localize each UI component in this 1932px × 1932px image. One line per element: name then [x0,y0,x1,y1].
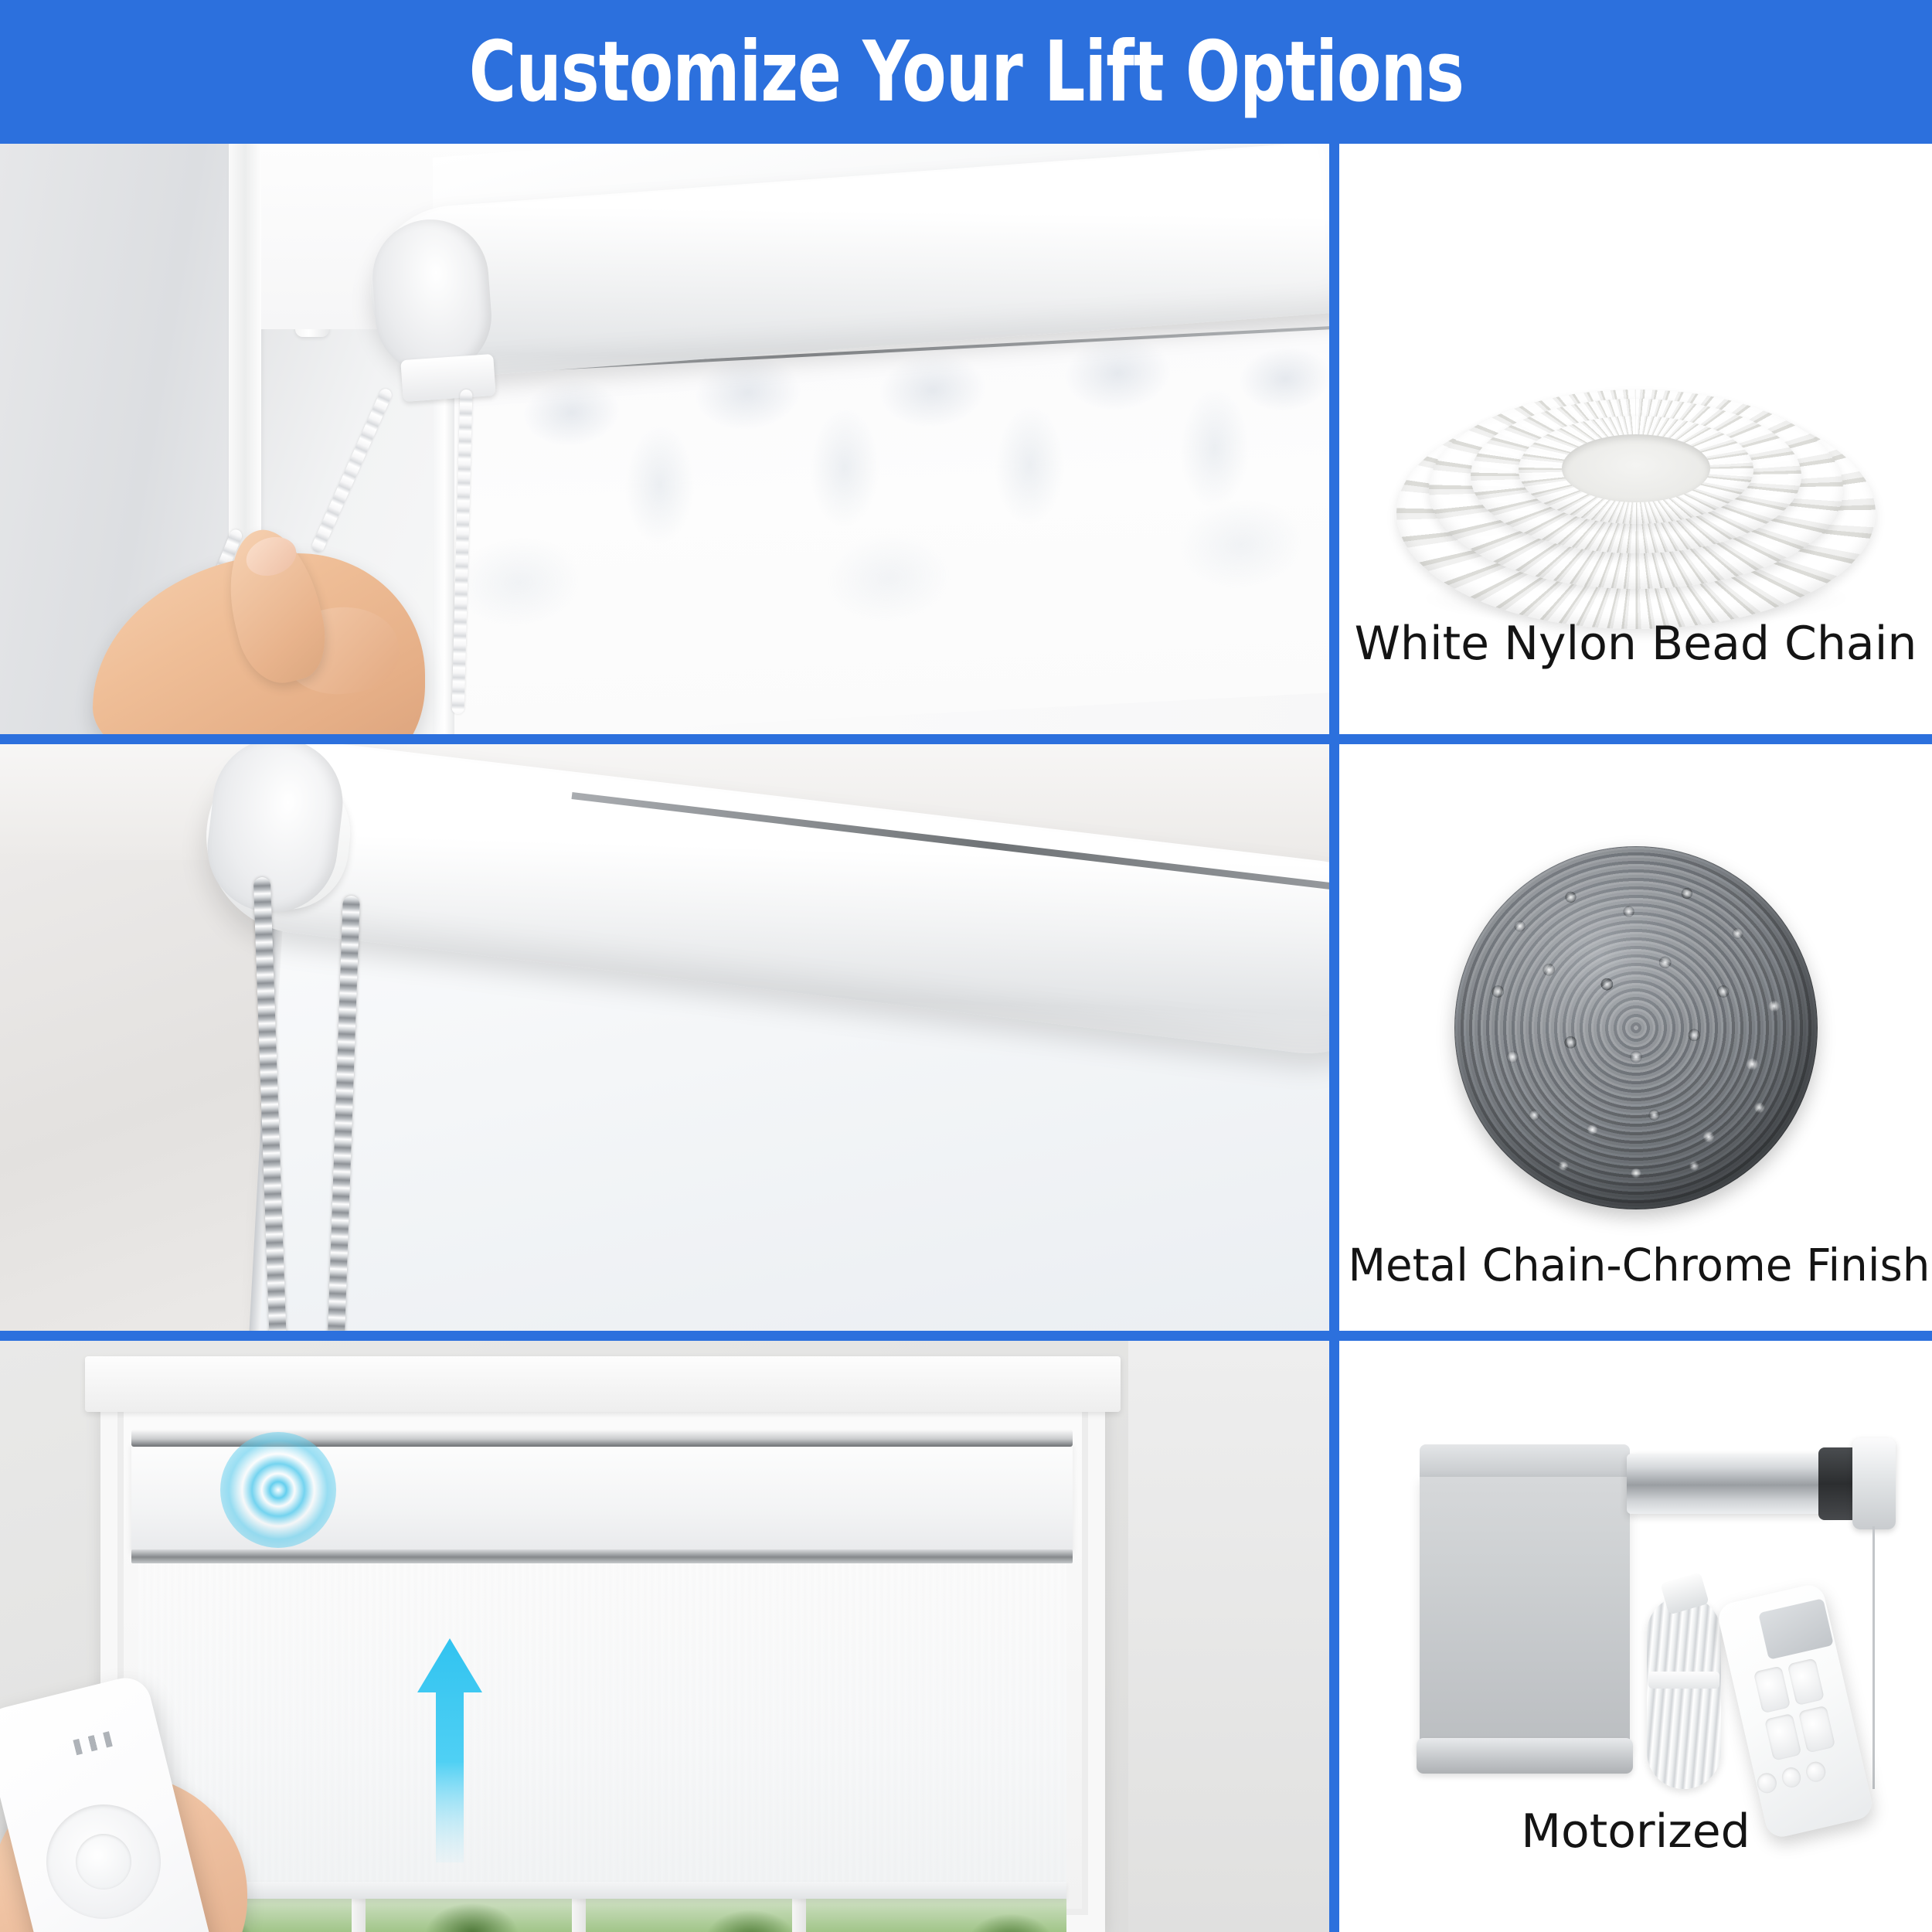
bead-chain-coil-icon [1396,376,1876,631]
bead-chain-icon [310,387,393,555]
window-mullion [792,1899,806,1932]
infographic-page: Customize Your Lift Options [0,0,1932,1932]
shade-bottom-rail [1417,1738,1633,1774]
remote-channel-button [1755,1771,1778,1795]
shade-fabric [1420,1477,1630,1747]
signal-ripple-icon [220,1432,336,1548]
up-arrow-icon [417,1638,482,1862]
chrome-chain-ball-icon [1454,846,1818,1209]
cell-product-metal-chain-chrome: Metal Chain-Chrome Finish [1339,744,1932,1331]
scene-motorized-window [0,1341,1329,1932]
motorized-kit [1339,1403,1932,1804]
motor-tube-icon [1627,1454,1834,1514]
pull-cord [1872,1526,1875,1789]
page-title: Customize Your Lift Options [468,24,1463,121]
cell-photo-white-bead-chain [0,144,1329,734]
cell-photo-metal-chain [0,744,1329,1331]
remote-channel-button [1780,1766,1803,1790]
fabric-grain [138,1563,1066,1896]
header-banner: Customize Your Lift Options [0,0,1932,144]
mounting-bracket [400,354,495,402]
cell-product-motorized: Motorized [1339,1341,1932,1932]
damask-pattern [448,329,1329,734]
cell-photo-motorized-window [0,1341,1329,1932]
foliage [138,1899,1066,1932]
options-grid: White Nylon Bead Chain [0,144,1932,1932]
wall-right [1128,1341,1329,1932]
cell-product-white-nylon-bead-chain: White Nylon Bead Chain [1339,144,1932,734]
window-crown-molding [85,1356,1121,1412]
scene-bead-chain-pull [0,144,1329,734]
chrome-bead-texture [1454,846,1818,1209]
window-mullion [352,1899,366,1932]
patterned-shade-fabric [448,329,1329,734]
window-mullion [572,1899,586,1932]
window-glass [138,1899,1066,1932]
label-motorized: Motorized [1339,1804,1932,1859]
shade-side-rail [433,375,454,734]
charging-cable-icon [1647,1596,1721,1789]
roller-shade-fabric [138,1563,1066,1896]
scene-metal-chain-shade [0,744,1329,1331]
coil-center [1562,434,1710,502]
motor-end-cap [1852,1438,1896,1529]
valance-bottom-trim [131,1549,1073,1563]
label-white-nylon-bead-chain: White Nylon Bead Chain [1339,617,1932,671]
shade-hem-bar [138,1882,1066,1899]
label-metal-chain-chrome-finish: Metal Chain-Chrome Finish [1349,1239,1923,1291]
cable-tie [1648,1672,1719,1689]
chrome-ball [1454,846,1818,1209]
